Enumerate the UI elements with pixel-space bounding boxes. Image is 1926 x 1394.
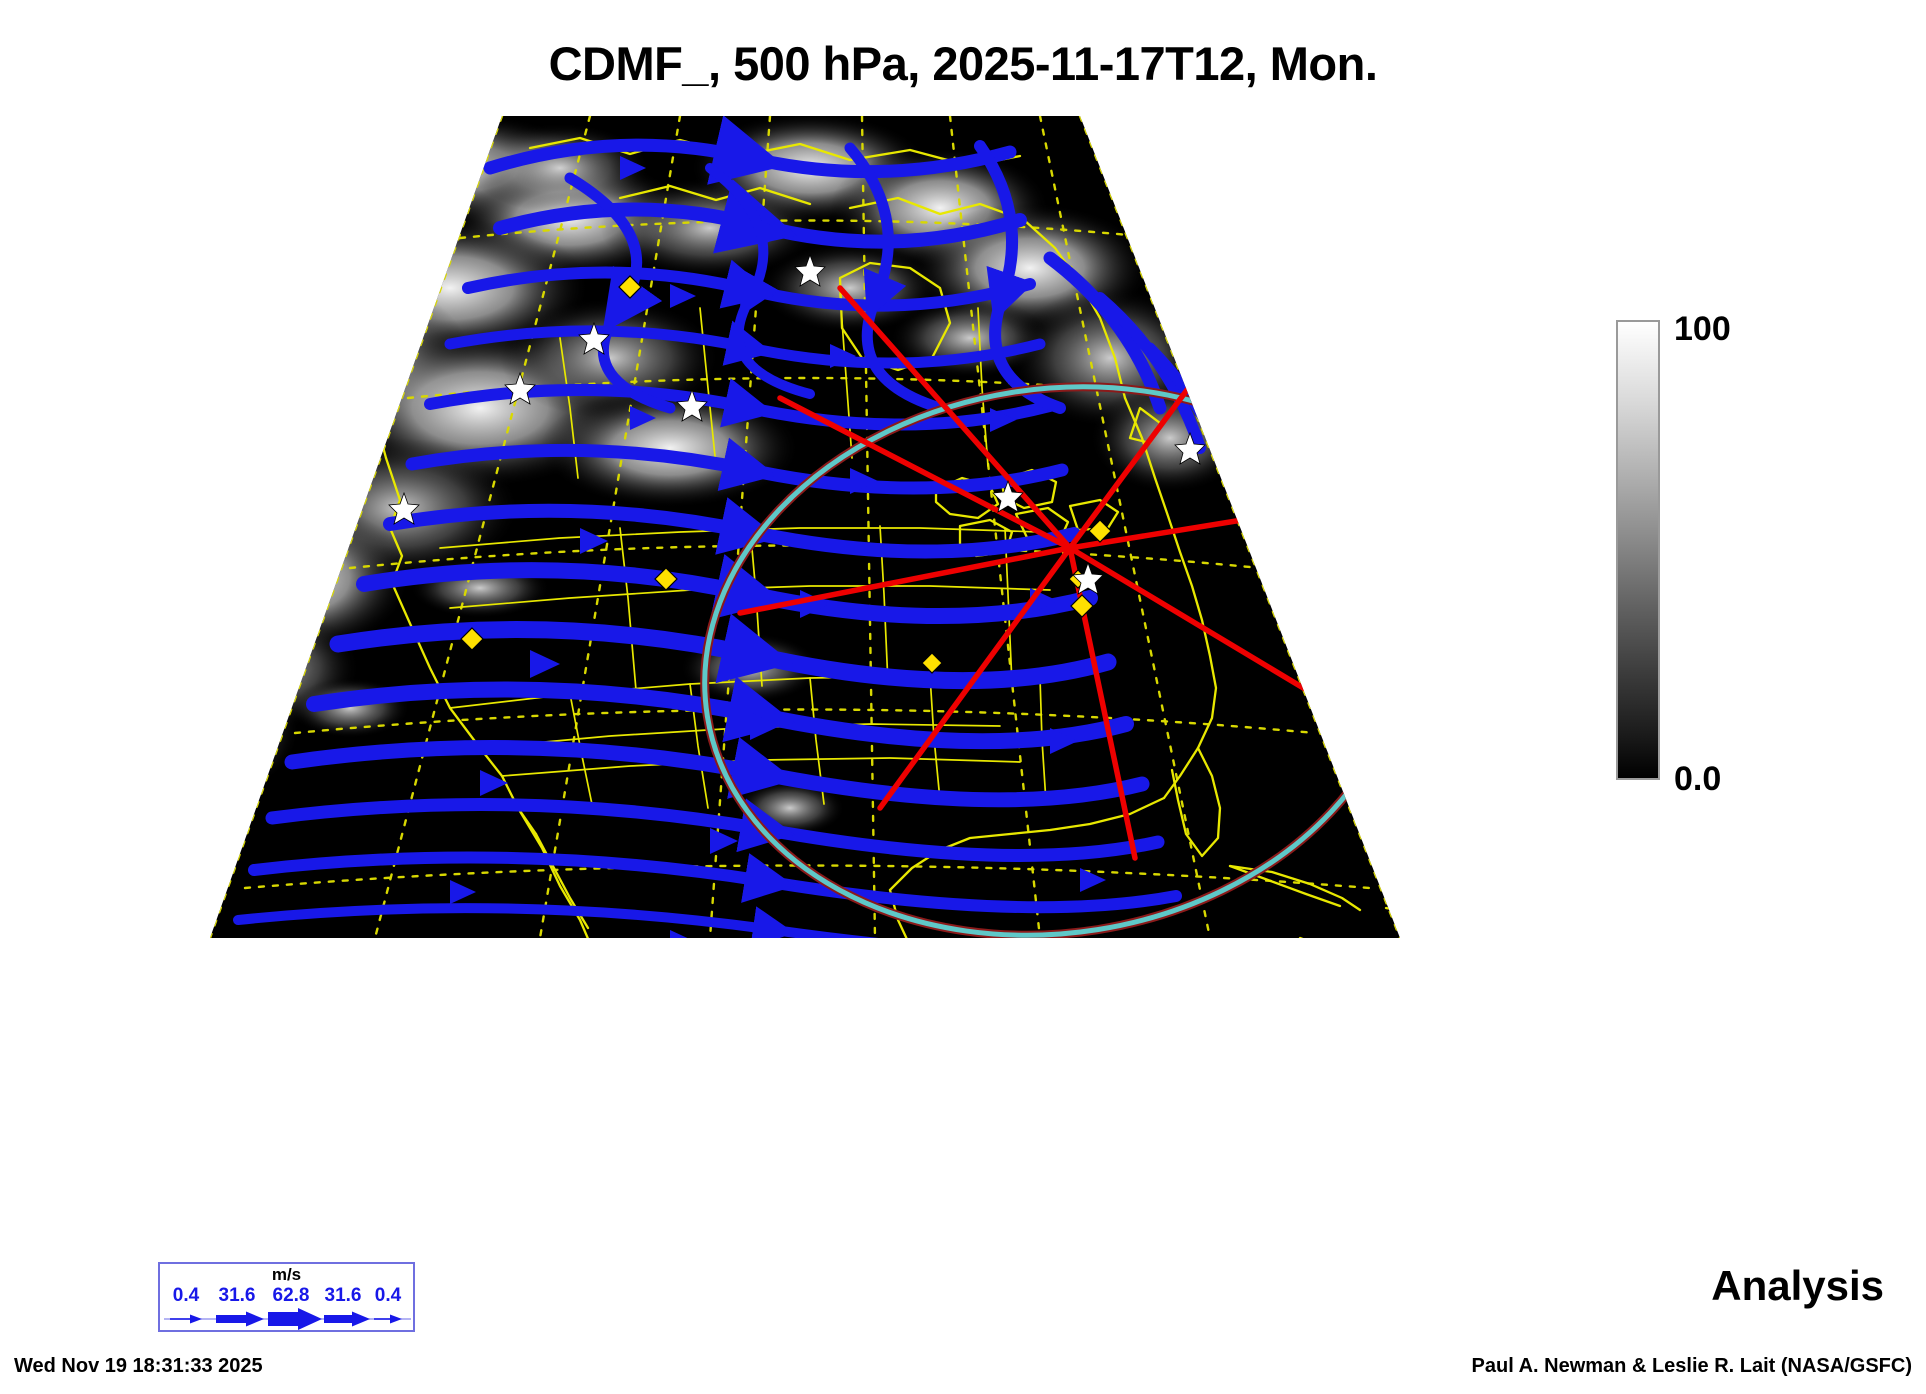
colorbar-max-label: 100 [1674,310,1731,349]
analysis-label: Analysis [1711,1262,1884,1310]
page-title: CDMF_, 500 hPa, 2025-11-17T12, Mon. [0,36,1926,91]
figure-root: CDMF_, 500 hPa, 2025-11-17T12, Mon. [0,0,1926,1394]
wind-legend-arrow-scale [164,1308,411,1330]
map-canvas[interactable] [150,108,1450,1018]
generation-timestamp: Wed Nov 19 18:31:33 2025 [14,1355,263,1378]
wind-legend-units: m/s [160,1265,413,1285]
map-panel[interactable] [150,108,1450,1018]
wind-legend-tick-1: 31.6 [210,1285,264,1307]
wind-legend-tick-4: 0.4 [366,1285,410,1307]
wind-legend-tick-2: 62.8 [264,1285,318,1307]
wind-legend-tick-0: 0.4 [164,1285,208,1307]
colorbar-gradient [1616,320,1660,780]
colorbar-min-label: 0.0 [1674,760,1721,799]
colorbar: 100 0.0 [1616,310,1916,1010]
author-credit: Paul A. Newman & Leslie R. Lait (NASA/GS… [1472,1355,1912,1378]
wind-speed-legend: m/s 0.4 31.6 62.8 31.6 0.4 [158,1262,415,1332]
wind-legend-tick-3: 31.6 [316,1285,370,1307]
